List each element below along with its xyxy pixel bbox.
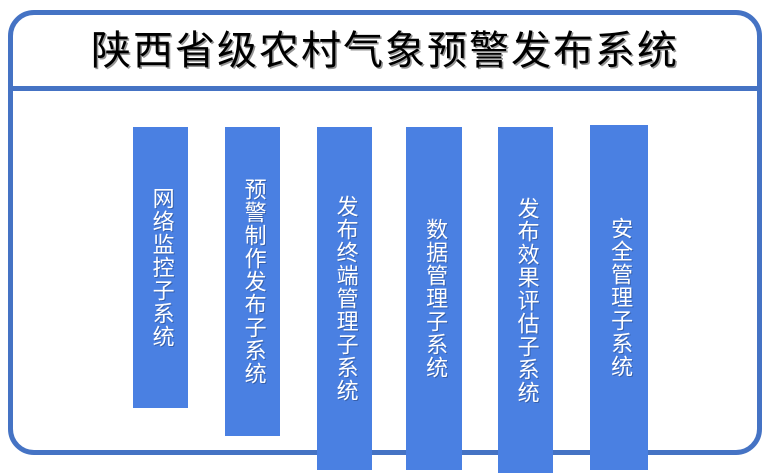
subsystem-pillar-label: 发布效果评估子系统 — [511, 197, 539, 404]
subsystem-pillar-network-monitoring[interactable]: 网络监控子系统 — [133, 127, 188, 408]
subsystem-pillar-release-terminal-management[interactable]: 发布终端管理子系统 — [317, 127, 372, 470]
subsystem-pillar-security-management[interactable]: 安全管理子系统 — [590, 125, 648, 470]
subsystem-pillar-label: 数据管理子系统 — [420, 218, 448, 379]
subsystem-pillar-label: 预警制作发布子系统 — [238, 178, 266, 385]
subsystem-pillar-data-management[interactable]: 数据管理子系统 — [406, 127, 462, 470]
system-architecture-diagram: 陕西省级农村气象预警发布系统 网络监控子系统 预警制作发布子系统 发布终端管理子… — [0, 0, 776, 469]
subsystem-pillar-release-effect-evaluation[interactable]: 发布效果评估子系统 — [498, 127, 553, 473]
diagram-title-band: 陕西省级农村气象预警发布系统 — [14, 16, 756, 86]
subsystem-pillar-label: 网络监控子系统 — [146, 187, 174, 348]
subsystem-pillar-label: 发布终端管理子系统 — [330, 195, 358, 402]
subsystem-pillars-row: 网络监控子系统 预警制作发布子系统 发布终端管理子系统 数据管理子系统 发布效果… — [0, 91, 776, 455]
subsystem-pillar-label: 安全管理子系统 — [605, 217, 633, 378]
page-title: 陕西省级农村气象预警发布系统 — [91, 29, 679, 73]
subsystem-pillar-warning-production-release[interactable]: 预警制作发布子系统 — [225, 127, 280, 436]
